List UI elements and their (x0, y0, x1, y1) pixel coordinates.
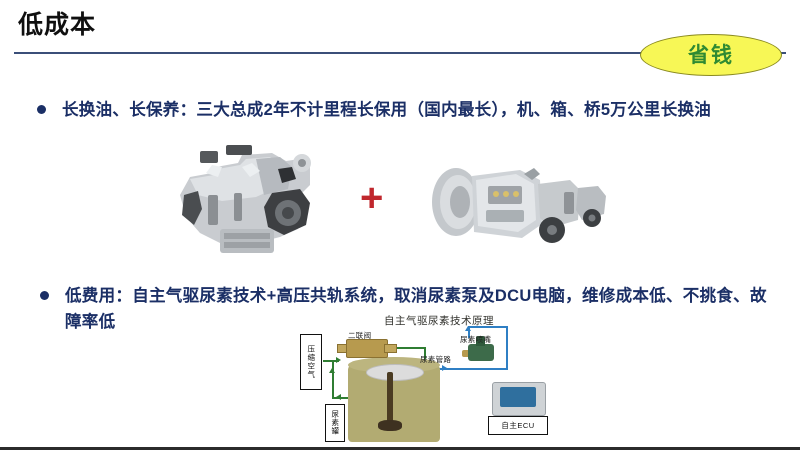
label-box-compressed-air: 压缩空气 (300, 334, 322, 390)
label-box-urea-tank: 尿素罐 (325, 404, 345, 442)
transmission-photo (428, 158, 610, 256)
air-line-segment (392, 347, 426, 349)
label-box-ecu: 自主ECU (488, 416, 548, 435)
plus-sign: + (360, 178, 383, 218)
page-title: 低成本 (18, 8, 96, 42)
air-arrow-icon (329, 368, 335, 373)
urea-line-segment (468, 326, 508, 328)
engine-photo (160, 133, 328, 261)
label-urea-pipeline: 尿素管路 (420, 354, 451, 365)
bullet-item-1: 长换油、长保养：三大总成2年不计里程长保用（国内最长），机、箱、桥5万公里长换油 (37, 97, 787, 123)
label-urea-tank: 尿素罐 (331, 410, 339, 436)
label-two-way-valve: 二联阀 (348, 330, 371, 341)
status-badge-label: 省钱 (688, 45, 734, 66)
transmission-illustration (428, 158, 610, 256)
urea-nozzle-body (468, 344, 494, 361)
two-way-valve-body (346, 339, 388, 358)
air-line-segment (332, 360, 334, 398)
urea-tank-pipe (387, 372, 393, 424)
label-urea-nozzle: 尿素喷嘴 (460, 334, 491, 345)
urea-tank-plate (366, 364, 424, 381)
valve-port-right (384, 344, 397, 353)
air-arrow-icon (336, 357, 341, 363)
status-badge: 省钱 (640, 34, 782, 76)
bullet-dot-icon (40, 291, 49, 300)
ecu-device-core (500, 387, 536, 407)
air-arrow-icon (336, 394, 341, 400)
urea-tank-foot (378, 420, 402, 431)
slide-canvas: 低成本 省钱 长换油、长保养：三大总成2年不计里程长保用（国内最长），机、箱、桥… (0, 0, 800, 450)
urea-arrow-icon (465, 326, 471, 331)
urea-arrow-icon (442, 365, 447, 371)
bullet-text-1: 长换油、长保养：三大总成2年不计里程长保用（国内最长），机、箱、桥5万公里长换油 (62, 97, 711, 123)
bullet-dot-icon (37, 105, 46, 114)
urea-system-diagram: 自主气驱尿素技术原理 (292, 312, 568, 445)
engine-illustration (160, 133, 328, 261)
label-ecu: 自主ECU (501, 422, 534, 430)
urea-line-segment (506, 326, 508, 368)
label-compressed-air: 压缩空气 (307, 345, 315, 379)
